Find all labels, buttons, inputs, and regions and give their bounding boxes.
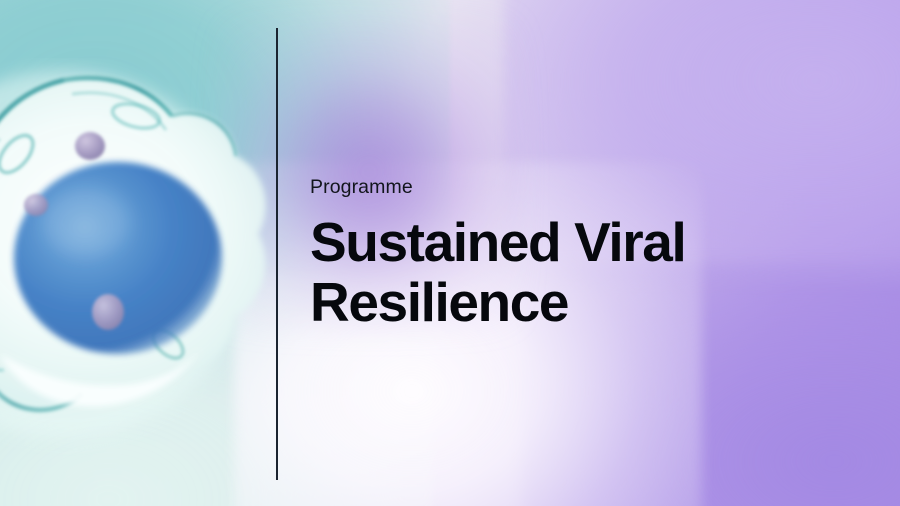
presentation-slide: Programme Sustained Viral Resilience [0,0,900,506]
organelle-dot-lower [92,294,124,330]
page-title: Sustained Viral Resilience [310,213,780,332]
cell-illustration [0,58,280,458]
vertical-divider-line [276,28,278,480]
organelle-dot-mid [24,194,48,216]
organelle-dot-upper [75,132,105,160]
slide-text-block: Programme Sustained Viral Resilience [310,176,780,332]
cell-nucleus-highlight [42,188,130,256]
eyebrow-label: Programme [310,176,780,199]
